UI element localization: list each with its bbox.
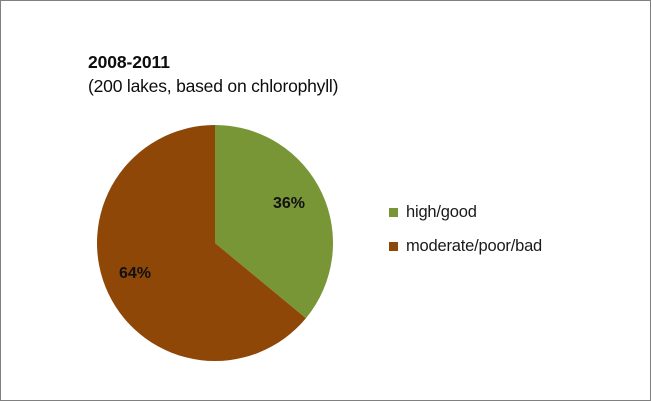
chart-canvas: 2008-2011 (200 lakes, based on chlorophy… [0,0,651,401]
legend-label-high-good: high/good [406,203,477,222]
chart-subtitle: (200 lakes, based on chlorophyll) [88,74,508,98]
chart-title: 2008-2011 [88,51,508,74]
legend-item-high-good[interactable]: high/good [389,195,619,229]
legend-swatch-icon-moderate-poor-bad [389,242,398,251]
legend-label-moderate-poor-bad: moderate/poor/bad [406,237,542,256]
legend-swatch-icon-high-good [389,208,398,217]
pie-chart: 36% 64% [97,125,333,361]
chart-legend: high/good moderate/poor/bad [389,195,619,263]
pie-slice-label-high-good: 36% [273,195,305,213]
pie-svg [97,125,333,361]
legend-item-moderate-poor-bad[interactable]: moderate/poor/bad [389,229,619,263]
title-block: 2008-2011 (200 lakes, based on chlorophy… [88,51,508,98]
pie-slice-label-moderate-poor-bad: 64% [119,265,151,283]
